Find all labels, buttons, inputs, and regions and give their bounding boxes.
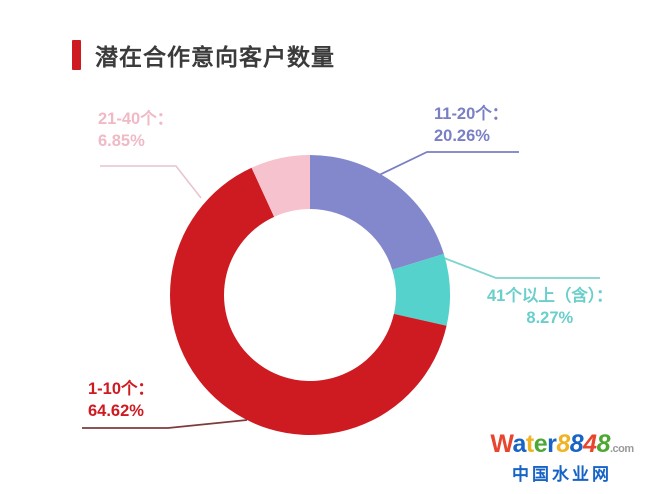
donut-segment-11-20[interactable]	[310, 155, 444, 270]
slice-label-41-plus-category: 41个以上（含）：	[487, 285, 613, 307]
watermark-chinese-name: 中国水业网	[487, 460, 637, 485]
slice-label-21-40: 21-40个： 6.85%	[98, 108, 173, 153]
watermark-letter-t: t	[526, 430, 534, 458]
slice-label-1-10: 1-10个： 64.62%	[88, 378, 154, 423]
watermark-letter-e: e	[534, 430, 547, 458]
slice-label-41-plus-value: 8.27%	[487, 307, 613, 329]
watermark-letter-w: W	[490, 430, 512, 458]
watermark-digit-8a: 8	[556, 430, 569, 458]
watermark-letter-r: r	[547, 430, 556, 458]
leader-line-purple	[377, 152, 519, 176]
donut-segments	[170, 155, 450, 435]
watermark-logo: Water8848.com 中国水业网	[487, 432, 637, 484]
slice-label-11-20-value: 20.26%	[434, 125, 508, 147]
watermark-letter-a: a	[512, 430, 525, 458]
watermark-wordmark: Water8848.com	[487, 432, 637, 457]
slice-label-1-10-value: 64.62%	[88, 400, 154, 422]
slice-label-21-40-category: 21-40个：	[98, 108, 173, 130]
leader-line-pink	[100, 166, 201, 198]
watermark-digit-4: 4	[583, 430, 596, 458]
watermark-digit-8b: 8	[570, 430, 583, 458]
slice-label-1-10-category: 1-10个：	[88, 378, 154, 400]
slice-label-11-20: 11-20个： 20.26%	[434, 103, 508, 148]
slice-label-11-20-category: 11-20个：	[434, 103, 508, 125]
watermark-digit-8c: 8	[597, 430, 610, 458]
slice-label-21-40-value: 6.85%	[98, 130, 173, 152]
donut-chart: 21-40个： 6.85% 11-20个： 20.26% 41个以上（含）： 8…	[0, 0, 648, 494]
watermark-tld: .com	[610, 443, 634, 455]
slice-label-41-plus: 41个以上（含）： 8.27%	[487, 285, 613, 330]
leader-line-teal	[444, 258, 600, 278]
chart-page: 潜在合作意向客户数量 21-40个： 6.85%	[0, 0, 648, 494]
